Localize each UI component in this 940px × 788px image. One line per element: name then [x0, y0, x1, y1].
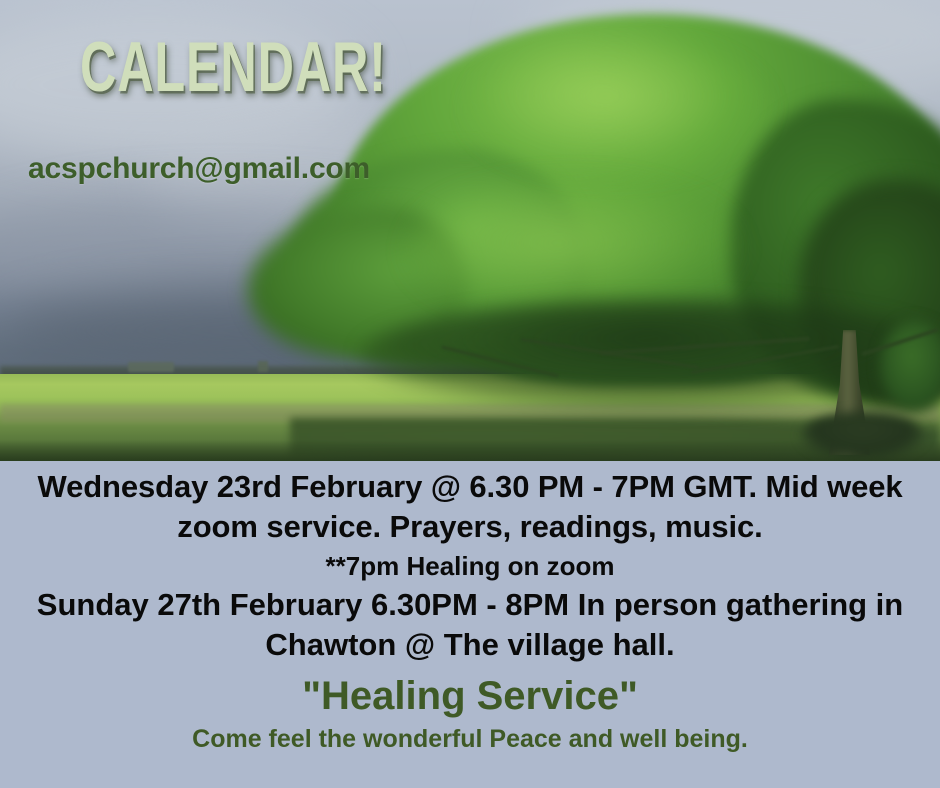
tree-canopy-highlight — [410, 180, 740, 320]
announcement-panel: Wednesday 23rd February @ 6.30 PM - 7PM … — [0, 461, 940, 788]
tree-root-mass — [800, 412, 925, 460]
calendar-title: CALENDAR! — [80, 33, 387, 104]
announcement-line: Sunday 27th February 6.30PM - 8PM In per… — [0, 585, 940, 625]
announcement-line: Wednesday 23rd February @ 6.30 PM - 7PM … — [0, 467, 940, 507]
announcement-line: **7pm Healing on zoom — [0, 547, 940, 585]
tree-canopy-highlight — [470, 40, 770, 180]
announcement-line: Chawton @ The village hall. — [0, 625, 940, 665]
service-heading: "Healing Service" — [0, 670, 940, 722]
tree-field-photo: CALENDAR! acspchurch@gmail.com — [0, 0, 940, 461]
poster-canvas: CALENDAR! acspchurch@gmail.com Wednesday… — [0, 0, 940, 788]
announcement-line: zoom service. Prayers, readings, music. — [0, 507, 940, 547]
service-subtitle: Come feel the wonderful Peace and well b… — [0, 722, 940, 756]
contact-email[interactable]: acspchurch@gmail.com — [28, 152, 370, 186]
